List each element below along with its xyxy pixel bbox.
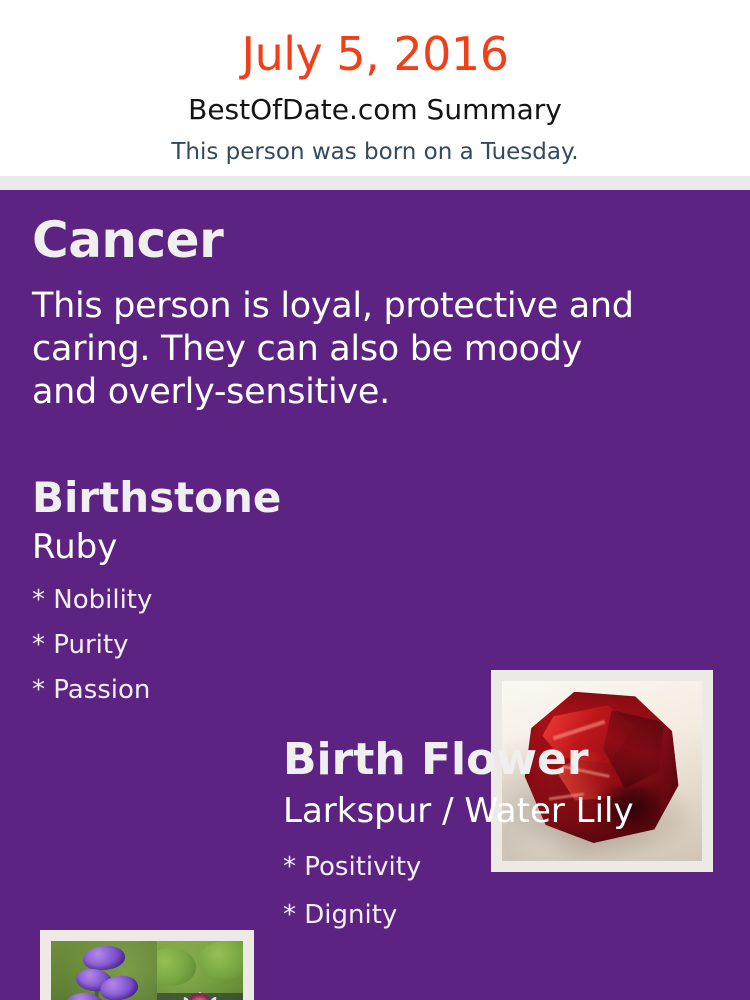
- birthstone-trait: * Nobility: [32, 578, 152, 623]
- water-lily-bloom: [170, 976, 229, 1000]
- birth-flower-trait: * Positivity: [283, 843, 421, 891]
- birthstone-name: Ruby: [32, 530, 117, 564]
- birth-flower-trait: * Dignity: [283, 891, 421, 939]
- header-panel: July 5, 2016 BestOfDate.com Summary This…: [0, 0, 750, 176]
- zodiac-sign-name: Cancer: [32, 215, 223, 265]
- birth-flower-heading: Birth Flower: [283, 738, 589, 782]
- birth-flower-photo: [51, 941, 243, 1000]
- header-divider: [0, 176, 750, 190]
- birthstone-trait-list: * Nobility * Purity * Passion: [32, 578, 152, 713]
- birth-flower-trait-list: * Positivity * Dignity: [283, 843, 421, 939]
- birthstone-trait: * Passion: [32, 668, 152, 713]
- birthstone-heading: Birthstone: [32, 477, 281, 519]
- lily-pad: [198, 941, 243, 979]
- born-weekday-text: This person was born on a Tuesday.: [0, 124, 750, 164]
- site-subtitle: BestOfDate.com Summary: [0, 77, 750, 124]
- lily-center: [187, 993, 212, 1000]
- water-lily-photo-panel: [157, 941, 243, 1000]
- larkspur-photo-panel: [51, 941, 157, 1000]
- birth-flower-name: Larkspur / Water Lily: [283, 794, 634, 828]
- body-panel: Cancer This person is loyal, protective …: [0, 190, 750, 1000]
- birth-flower-image-frame: [40, 930, 254, 1000]
- birthstone-trait: * Purity: [32, 623, 152, 668]
- page-title: July 5, 2016: [0, 0, 750, 77]
- zodiac-description: This person is loyal, protective and car…: [32, 285, 646, 414]
- infographic-card: July 5, 2016 BestOfDate.com Summary This…: [0, 0, 750, 1000]
